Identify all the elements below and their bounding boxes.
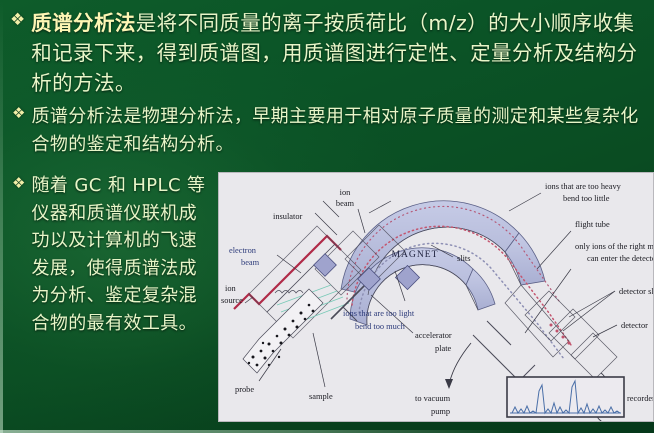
vacuum-pump-label-line1: to vacuum: [415, 394, 451, 403]
ion-source-label-line1: ion: [225, 284, 237, 293]
bullet-2-text: 质谱分析法是物理分析法，早期主要用于相对原子质量的测定和某些复杂化合物的鉴定和结…: [31, 103, 648, 159]
bullet-item-2: ❖ 质谱分析法是物理分析法，早期主要用于相对原子质量的测定和某些复杂化合物的鉴定…: [12, 103, 648, 159]
too-light-label-line1: ions that are too light: [343, 309, 415, 318]
vacuum-pump-label-line2: pump: [431, 407, 450, 416]
ion-beam-label-line1: ion: [340, 188, 352, 197]
recorder-box: [507, 377, 624, 417]
mass-spectrometer-diagram: MAGNET: [218, 172, 654, 422]
bullet-1-text: 质谱分析法是将不同质量的离子按质荷比（m/z）的大小顺序收集和记录下来，得到质谱…: [31, 8, 646, 98]
insulator-label: insulator: [273, 212, 303, 221]
recorder-label: recorder: [627, 394, 654, 403]
diamond-bullet-icon: ❖: [12, 106, 25, 121]
accelerator-plate-label-line2: plate: [435, 344, 452, 353]
bullet-1-highlight: 质谱分析法: [31, 11, 136, 35]
sample-label: sample: [309, 392, 333, 401]
accelerator-plate-label-line1: accelerator: [415, 331, 452, 340]
diamond-bullet-icon: ❖: [12, 176, 25, 191]
bullet-3-text: 随着 GC 和 HPLC 等仪器和质谱仪联机成功以及计算机的飞速发展，使得质谱法…: [31, 172, 211, 337]
too-heavy-label-line1: ions that are too heavy: [545, 182, 622, 191]
diamond-bullet-icon: ❖: [10, 11, 25, 28]
detector-label: detector: [621, 321, 648, 330]
right-mass-label-line2: can enter the detector: [587, 254, 654, 263]
slide-left-edge-highlight: [0, 0, 3, 433]
electron-beam-label-line1: electron: [229, 246, 257, 255]
bullet-item-3: ❖ 随着 GC 和 HPLC 等仪器和质谱仪联机成功以及计算机的飞速发展，使得质…: [12, 172, 212, 337]
detector-slits-label: detector slits: [619, 287, 654, 296]
ion-beam-label-line2: beam: [336, 199, 355, 208]
ion-source-label-line2: source: [221, 296, 243, 305]
too-heavy-label-line2: bend too little: [563, 194, 610, 203]
flight-tube-label: flight tube: [575, 220, 610, 229]
right-mass-label-line1: only ions of the right mass: [575, 242, 654, 251]
bullet-item-1: ❖ 质谱分析法是将不同质量的离子按质荷比（m/z）的大小顺序收集和记录下来，得到…: [10, 8, 646, 98]
slide-root: ❖ 质谱分析法是将不同质量的离子按质荷比（m/z）的大小顺序收集和记录下来，得到…: [0, 0, 654, 433]
slits-label: slits: [457, 254, 471, 263]
probe-label: probe: [235, 385, 254, 394]
electron-beam-label-line2: beam: [241, 258, 260, 267]
magnet-label: MAGNET: [391, 249, 438, 260]
too-light-label-line2: bend too much: [355, 322, 406, 331]
